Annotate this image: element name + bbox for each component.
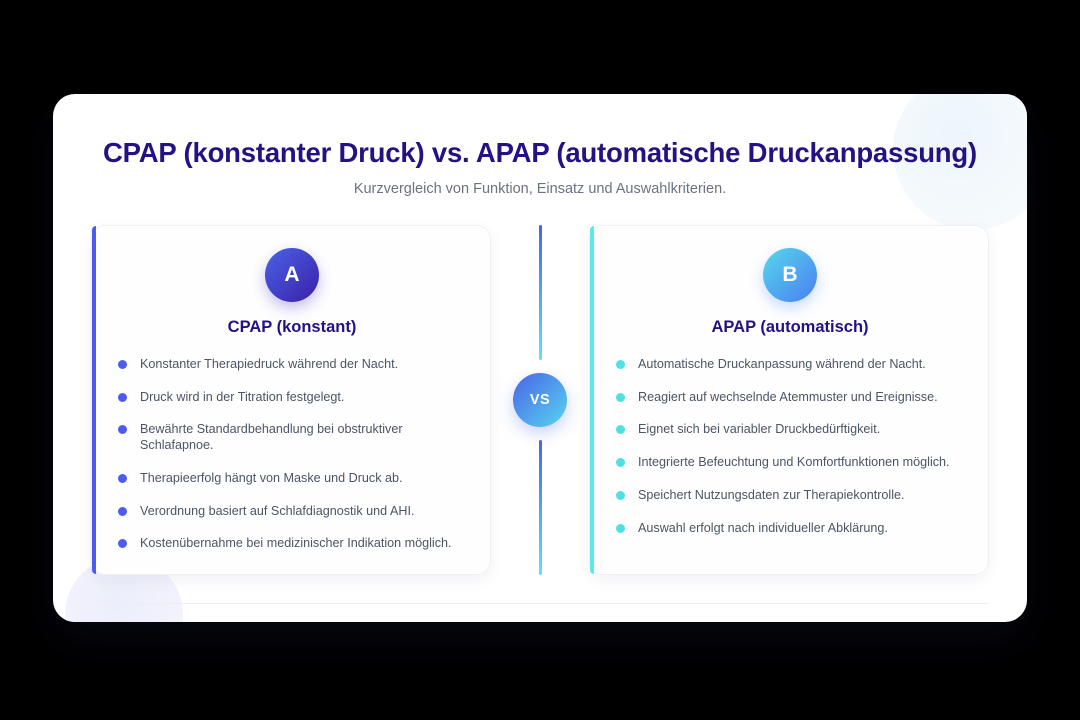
bullet-dot-icon [616, 491, 625, 500]
card-title-apap: APAP (automatisch) [612, 318, 968, 337]
screen-background: CPAP (konstanter Druck) vs. APAP (automa… [0, 0, 1080, 720]
page-subtitle: Kurzvergleich von Funktion, Einsatz und … [53, 181, 1027, 197]
bullet-dot-icon [616, 524, 625, 533]
list-item: Druck wird in der Titration festgelegt. [114, 390, 470, 406]
list-item: Auswahl erfolgt nach individueller Abklä… [612, 521, 968, 537]
feature-text: Reagiert auf wechselnde Atemmuster und E… [638, 390, 938, 404]
versus-line-bottom [539, 440, 542, 575]
comparison-card-cpap[interactable]: A CPAP (konstant) Konstanter Therapiedru… [91, 225, 491, 575]
comparison-panel: CPAP (konstanter Druck) vs. APAP (automa… [53, 94, 1027, 622]
feature-text: Auswahl erfolgt nach individueller Abklä… [638, 521, 888, 535]
versus-divider: VS [491, 225, 589, 575]
feature-list-cpap: Konstanter Therapiedruck während der Nac… [114, 357, 470, 552]
bullet-dot-icon [118, 507, 127, 516]
card-accent-bar-left [92, 226, 96, 574]
bullet-dot-icon [616, 425, 625, 434]
badge-a: A [265, 248, 319, 302]
feature-text: Kostenübernahme bei medizinischer Indika… [140, 536, 452, 550]
feature-text: Bewährte Standardbehandlung bei obstrukt… [140, 422, 403, 452]
list-item: Kostenübernahme bei medizinischer Indika… [114, 536, 470, 552]
badge-b-letter: B [782, 263, 797, 287]
bullet-dot-icon [616, 393, 625, 402]
bullet-dot-icon [616, 458, 625, 467]
feature-text: Speichert Nutzungsdaten zur Therapiekont… [638, 488, 905, 502]
list-item: Konstanter Therapiedruck während der Nac… [114, 357, 470, 373]
footer-note: Beide Systeme haben Vor- und Nachteile. … [53, 604, 1027, 622]
feature-text: Konstanter Therapiedruck während der Nac… [140, 357, 398, 371]
versus-label: VS [530, 392, 550, 408]
versus-badge: VS [513, 373, 567, 427]
bullet-dot-icon [118, 474, 127, 483]
bullet-dot-icon [118, 393, 127, 402]
panel-header: CPAP (konstanter Druck) vs. APAP (automa… [53, 94, 1027, 197]
feature-text: Integrierte Befeuchtung und Komfortfunkt… [638, 455, 950, 469]
card-accent-bar-right [590, 226, 594, 574]
bullet-dot-icon [118, 360, 127, 369]
list-item: Therapieerfolg hängt von Maske und Druck… [114, 471, 470, 487]
feature-text: Therapieerfolg hängt von Maske und Druck… [140, 471, 403, 485]
list-item: Speichert Nutzungsdaten zur Therapiekont… [612, 488, 968, 504]
page-title: CPAP (konstanter Druck) vs. APAP (automa… [53, 136, 1027, 169]
comparison-area: A CPAP (konstant) Konstanter Therapiedru… [53, 225, 1027, 575]
bullet-dot-icon [616, 360, 625, 369]
badge-a-letter: A [284, 263, 299, 287]
feature-list-apap: Automatische Druckanpassung während der … [612, 357, 968, 536]
badge-b: B [763, 248, 817, 302]
card-title-cpap: CPAP (konstant) [114, 318, 470, 337]
list-item: Eignet sich bei variabler Druckbedürftig… [612, 422, 968, 438]
list-item: Verordnung basiert auf Schlafdiagnostik … [114, 504, 470, 520]
feature-text: Eignet sich bei variabler Druckbedürftig… [638, 422, 880, 436]
list-item: Reagiert auf wechselnde Atemmuster und E… [612, 390, 968, 406]
bullet-dot-icon [118, 539, 127, 548]
versus-line-top [539, 225, 542, 360]
list-item: Bewährte Standardbehandlung bei obstrukt… [114, 422, 470, 453]
bullet-dot-icon [118, 425, 127, 434]
list-item: Integrierte Befeuchtung und Komfortfunkt… [612, 455, 968, 471]
list-item: Automatische Druckanpassung während der … [612, 357, 968, 373]
feature-text: Automatische Druckanpassung während der … [638, 357, 926, 371]
feature-text: Verordnung basiert auf Schlafdiagnostik … [140, 504, 414, 518]
comparison-card-apap[interactable]: B APAP (automatisch) Automatische Drucka… [589, 225, 989, 575]
feature-text: Druck wird in der Titration festgelegt. [140, 390, 344, 404]
